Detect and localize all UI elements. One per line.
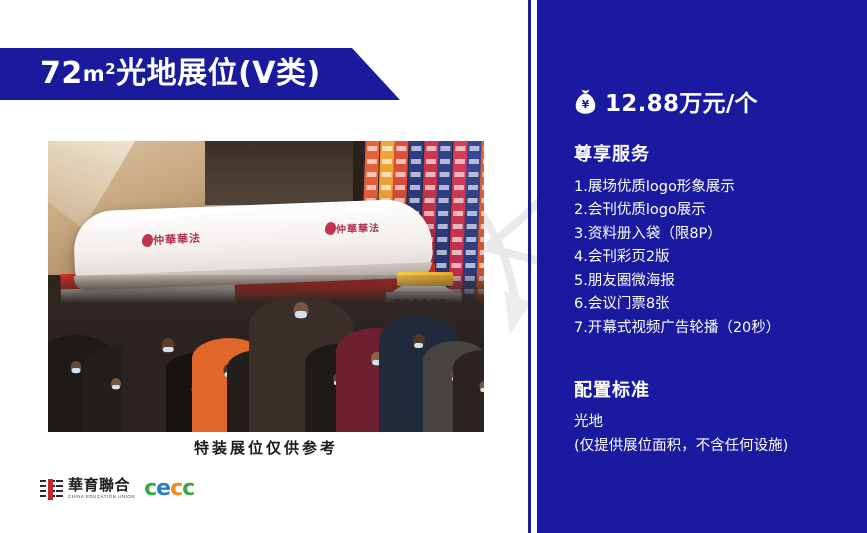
- price-row: ¥ 12.88万元/个: [574, 84, 859, 118]
- photo-caption: 特装展位仅供参考: [48, 437, 484, 458]
- title-unit-superscript: 2: [105, 60, 116, 78]
- photo-booth-logo-text: 仲華華法: [336, 219, 380, 236]
- service-item: 4.会刊彩页2版: [574, 246, 859, 269]
- photo-attendee-mask: [111, 385, 119, 389]
- configuration-heading: 配置标准: [574, 376, 859, 402]
- title-number: 72: [40, 56, 83, 91]
- right-panel: ¥ 12.88万元/个 尊享服务 1.展场优质logo形象展示 2.会刊优质lo…: [537, 0, 867, 533]
- hua-yu-union-logo: 華育聯合 CHINA EDUCATION UNION: [40, 478, 135, 499]
- photo-attendee: [453, 350, 484, 432]
- services-heading: 尊享服务: [574, 140, 859, 166]
- photo-attendee-mask: [414, 343, 424, 348]
- cecc-logo: cecc: [144, 478, 194, 500]
- booth-photo-content: 仲華華法 仲華華法: [48, 141, 484, 432]
- page-title: 72m2光地展位(V类): [40, 59, 321, 89]
- photo-attendee-mask: [163, 347, 174, 352]
- services-list: 1.展场优质logo形象展示 2.会刊优质logo展示 3.资料册入袋（限8P）…: [574, 176, 859, 340]
- logo-row: 華育聯合 CHINA EDUCATION UNION cecc: [40, 478, 194, 500]
- photo-attendee-mask: [72, 368, 81, 373]
- photo-crowd: [48, 275, 484, 432]
- cecc-letter-3: c: [170, 478, 182, 500]
- hua-yu-mark-icon: [40, 479, 63, 500]
- money-bag-icon: ¥: [574, 88, 597, 114]
- photo-attendee-mask: [295, 311, 307, 317]
- photo-booth-logo-text: 仲華華法: [152, 230, 201, 248]
- service-item: 5.朋友圈微海报: [574, 270, 859, 293]
- price-value: 12.88万元/个: [605, 84, 758, 118]
- configuration-line-1: 光地: [574, 411, 859, 434]
- title-banner: 72m2光地展位(V类): [0, 48, 400, 100]
- service-item: 6.会议门票8张: [574, 293, 859, 316]
- svg-text:¥: ¥: [582, 98, 590, 111]
- hua-yu-logo-en: CHINA EDUCATION UNION: [68, 495, 135, 499]
- configuration-line-2: (仅提供展位面积，不含任何设施): [574, 435, 859, 458]
- left-column: 72m2光地展位(V类): [0, 0, 528, 533]
- cecc-letter-2: e: [156, 478, 170, 500]
- vertical-divider: [528, 0, 531, 533]
- slide-root: 72m2光地展位(V类): [0, 0, 867, 533]
- service-item: 7.开幕式视频广告轮播（20秒）: [574, 317, 859, 340]
- service-item: 2.会刊优质logo展示: [574, 199, 859, 222]
- booth-photo: 仲華華法 仲華華法: [48, 141, 484, 432]
- title-rest: 光地展位(V类): [116, 56, 321, 91]
- hua-yu-logo-cn: 華育聯合: [68, 478, 135, 493]
- right-panel-content: ¥ 12.88万元/个 尊享服务 1.展场优质logo形象展示 2.会刊优质lo…: [574, 0, 859, 458]
- title-unit: m: [83, 62, 105, 86]
- hua-yu-logo-text: 華育聯合 CHINA EDUCATION UNION: [68, 478, 135, 499]
- configuration-body: 光地 (仅提供展位面积，不含任何设施): [574, 411, 859, 457]
- photo-ceiling-dark: [205, 141, 353, 205]
- cecc-letter-4: c: [182, 478, 194, 500]
- photo-attendee-mask: [480, 388, 484, 392]
- cecc-letter-1: c: [144, 478, 156, 500]
- service-item: 3.资料册入袋（限8P）: [574, 223, 859, 246]
- service-item: 1.展场优质logo形象展示: [574, 176, 859, 199]
